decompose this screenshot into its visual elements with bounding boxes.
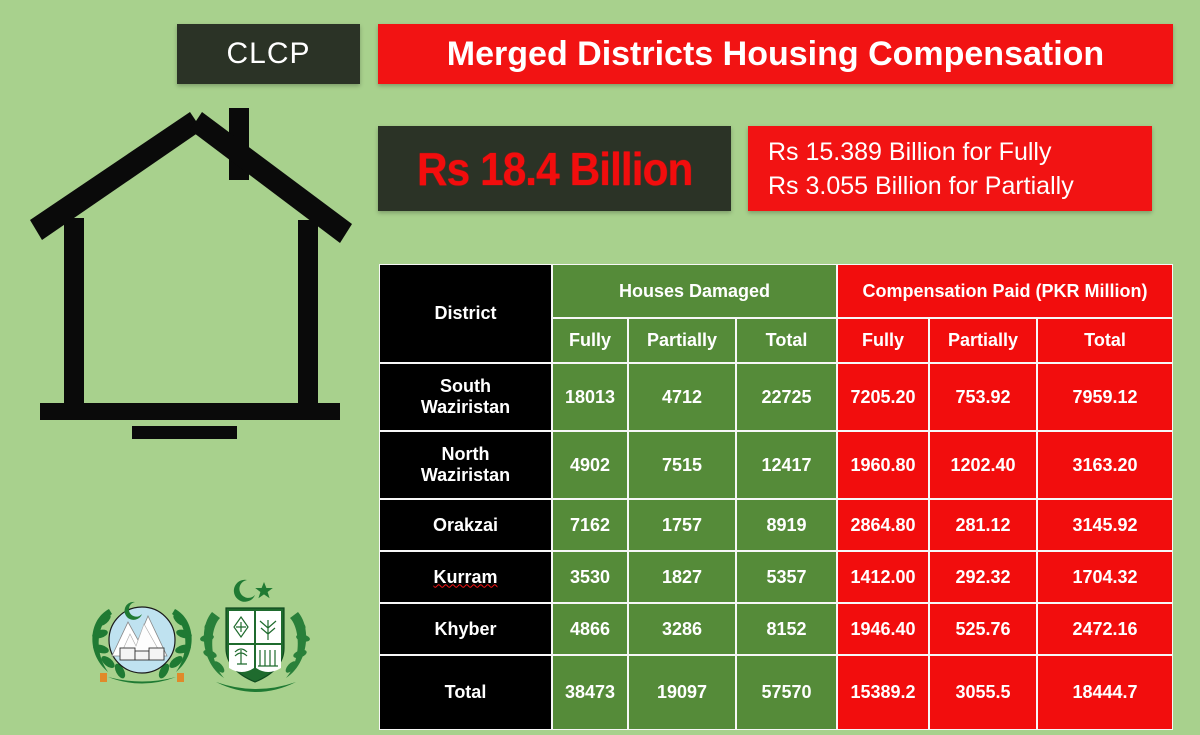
page-title-label: Merged Districts Housing Compensation — [447, 35, 1104, 74]
district-name-line2: Waziristan — [380, 397, 551, 418]
district-name-line1: Kurram — [380, 567, 551, 588]
row-district-south-waziristan: South Waziristan — [379, 363, 552, 431]
district-name-line1: Total — [380, 682, 551, 703]
cell-comp-total: 7959.12 — [1037, 363, 1173, 431]
cell-comp-total-total: 18444.7 — [1037, 655, 1173, 730]
cell-houses-total: 8152 — [736, 603, 837, 655]
pakistan-state-emblem — [199, 580, 310, 692]
house-outline-icon — [22, 108, 367, 448]
fully-amount-label: Rs 15.389 Billion for Fully — [768, 135, 1051, 169]
partially-amount-label: Rs 3.055 Billion for Partially — [768, 169, 1074, 203]
table-row: Orakzai 7162 1757 8919 2864.80 281.12 31… — [379, 499, 1173, 551]
cell-comp-partially: 1202.40 — [929, 431, 1037, 499]
header-houses-total: Total — [736, 318, 837, 363]
cell-houses-total: 8919 — [736, 499, 837, 551]
cell-comp-total: 1704.32 — [1037, 551, 1173, 603]
cell-comp-partially: 753.92 — [929, 363, 1037, 431]
header-district: District — [379, 264, 552, 363]
row-district-north-waziristan: North Waziristan — [379, 431, 552, 499]
cell-comp-fully: 2864.80 — [837, 499, 929, 551]
header-comp-partially: Partially — [929, 318, 1037, 363]
cell-houses-fully: 3530 — [552, 551, 628, 603]
cell-houses-total-total: 57570 — [736, 655, 837, 730]
table-row: Kurram 3530 1827 5357 1412.00 292.32 170… — [379, 551, 1173, 603]
row-district-total: Total — [379, 655, 552, 730]
program-badge: CLCP — [177, 24, 360, 84]
cell-houses-fully: 18013 — [552, 363, 628, 431]
cell-houses-partially: 4712 — [628, 363, 736, 431]
row-district-orakzai: Orakzai — [379, 499, 552, 551]
row-district-kurram: Kurram — [379, 551, 552, 603]
cell-houses-partially-total: 19097 — [628, 655, 736, 730]
table-body: South Waziristan 18013 4712 22725 7205.2… — [379, 363, 1173, 730]
cell-houses-total: 5357 — [736, 551, 837, 603]
total-amount-label: Rs 18.4 Billion — [417, 142, 692, 196]
district-name-line1: South — [380, 376, 551, 397]
cell-comp-total: 2472.16 — [1037, 603, 1173, 655]
cell-comp-partially: 281.12 — [929, 499, 1037, 551]
cell-comp-total: 3163.20 — [1037, 431, 1173, 499]
program-badge-label: CLCP — [226, 37, 310, 71]
khyber-pakhtunkhwa-emblem — [91, 602, 193, 684]
cell-houses-fully: 7162 — [552, 499, 628, 551]
page-title: Merged Districts Housing Compensation — [378, 24, 1173, 84]
cell-houses-fully: 4902 — [552, 431, 628, 499]
cell-houses-total: 22725 — [736, 363, 837, 431]
cell-comp-fully: 1412.00 — [837, 551, 929, 603]
cell-comp-partially: 292.32 — [929, 551, 1037, 603]
table-row: South Waziristan 18013 4712 22725 7205.2… — [379, 363, 1173, 431]
header-houses-partially: Partially — [628, 318, 736, 363]
cell-comp-partially: 525.76 — [929, 603, 1037, 655]
cell-comp-fully: 7205.20 — [837, 363, 929, 431]
table-row: North Waziristan 4902 7515 12417 1960.80… — [379, 431, 1173, 499]
cell-comp-fully-total: 15389.2 — [837, 655, 929, 730]
header-compensation-paid: Compensation Paid (PKR Million) — [837, 264, 1173, 318]
table-group-header-row: District Houses Damaged Compensation Pai… — [379, 264, 1173, 318]
amount-breakdown-box: Rs 15.389 Billion for Fully Rs 3.055 Bil… — [748, 126, 1152, 211]
district-name-line1: North — [380, 444, 551, 465]
cell-comp-fully: 1946.40 — [837, 603, 929, 655]
district-name-line2: Waziristan — [380, 465, 551, 486]
header-comp-total: Total — [1037, 318, 1173, 363]
cell-comp-fully: 1960.80 — [837, 431, 929, 499]
government-emblems — [72, 572, 322, 702]
table-row: Khyber 4866 3286 8152 1946.40 525.76 247… — [379, 603, 1173, 655]
cell-houses-partially: 7515 — [628, 431, 736, 499]
district-name-line1: Khyber — [380, 619, 551, 640]
cell-houses-fully-total: 38473 — [552, 655, 628, 730]
cell-houses-partially: 1827 — [628, 551, 736, 603]
cell-comp-partially-total: 3055.5 — [929, 655, 1037, 730]
header-houses-fully: Fully — [552, 318, 628, 363]
cell-houses-partially: 1757 — [628, 499, 736, 551]
infographic-canvas: CLCP Merged Districts Housing Compensati… — [0, 0, 1200, 735]
compensation-table: District Houses Damaged Compensation Pai… — [379, 264, 1173, 730]
cell-houses-total: 12417 — [736, 431, 837, 499]
total-amount-box: Rs 18.4 Billion — [378, 126, 731, 211]
row-district-khyber: Khyber — [379, 603, 552, 655]
district-name-line1: Orakzai — [380, 515, 551, 536]
cell-houses-partially: 3286 — [628, 603, 736, 655]
header-houses-damaged: Houses Damaged — [552, 264, 837, 318]
cell-houses-fully: 4866 — [552, 603, 628, 655]
table-row-total: Total 38473 19097 57570 15389.2 3055.5 1… — [379, 655, 1173, 730]
cell-comp-total: 3145.92 — [1037, 499, 1173, 551]
header-comp-fully: Fully — [837, 318, 929, 363]
